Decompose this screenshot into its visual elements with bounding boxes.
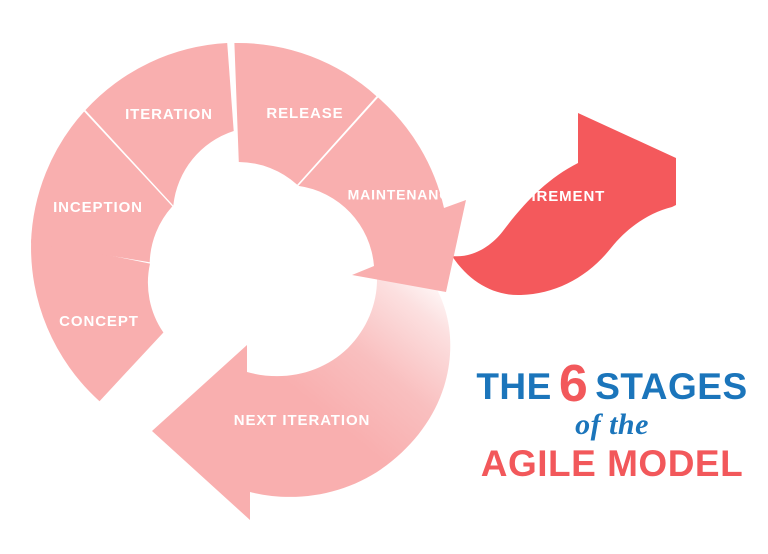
retirement-label: RETIREMENT	[499, 188, 606, 205]
segment-inception-label: INCEPTION	[53, 199, 143, 216]
segment-iteration-label: ITERATION	[125, 106, 213, 123]
title-block: THE 6 STAGES of the AGILE MODEL	[466, 362, 758, 485]
segment-concept-label: CONCEPT	[59, 313, 139, 330]
next-iteration-arrow-shape	[152, 246, 450, 520]
segment-release-label: RELEASE	[266, 105, 343, 122]
next-iteration-arrow[interactable]: NEXT ITERATION	[152, 246, 450, 520]
title-word-stages: STAGES	[595, 367, 747, 407]
segment-maintenance-label: MAINTENANCE	[348, 187, 461, 203]
segment-concept[interactable]: CONCEPT	[31, 239, 163, 401]
next-iteration-label: NEXT ITERATION	[234, 412, 371, 429]
title-line-stages: THE 6 STAGES	[466, 362, 758, 407]
title-line-agile-model: AGILE MODEL	[466, 443, 758, 485]
title-number-six: 6	[559, 364, 588, 404]
title-word-the: THE	[476, 367, 552, 407]
retirement-arrow[interactable]: RETIREMENT	[452, 113, 676, 295]
title-line-of-the: of the	[466, 407, 758, 443]
infographic-canvas: NEXT ITERATION RETIREMENT CONCEPT INCEPT…	[0, 0, 768, 554]
